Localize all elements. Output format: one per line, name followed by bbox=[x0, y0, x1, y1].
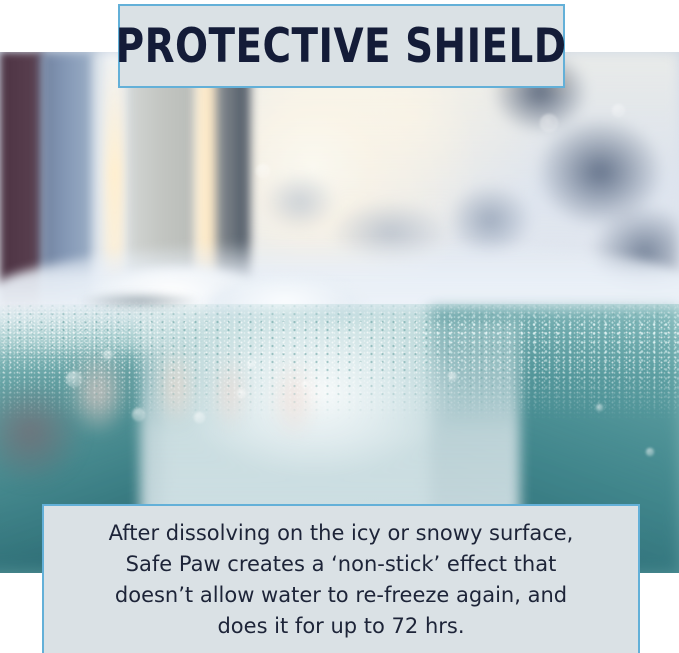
caption-text: After dissolving on the icy or snowy sur… bbox=[95, 518, 588, 642]
bokeh-droplet bbox=[103, 350, 113, 360]
caption-banner: After dissolving on the icy or snowy sur… bbox=[42, 504, 640, 653]
bokeh-droplet bbox=[247, 360, 255, 368]
bokeh-droplet bbox=[132, 408, 145, 421]
bokeh-droplet bbox=[596, 404, 603, 411]
caption-line: Safe Paw creates a ‘non-stick’ effect th… bbox=[109, 549, 574, 580]
bokeh-light bbox=[256, 164, 270, 178]
bokeh-droplet bbox=[194, 412, 205, 423]
bokeh-droplet bbox=[448, 372, 457, 381]
caption-line: After dissolving on the icy or snowy sur… bbox=[109, 518, 574, 549]
bokeh-droplet bbox=[66, 371, 82, 387]
bokeh-droplet bbox=[302, 381, 309, 388]
bokeh-droplet bbox=[237, 389, 246, 398]
photo-ice-granules-right bbox=[420, 302, 679, 412]
title-banner: PROTECTIVE SHIELD bbox=[118, 4, 565, 88]
bokeh-droplet bbox=[646, 448, 654, 456]
caption-line: doesn’t allow water to re-freeze again, … bbox=[109, 580, 574, 611]
bokeh-light bbox=[540, 114, 558, 132]
photo-ice-granules-fine bbox=[0, 308, 360, 378]
bokeh-light bbox=[612, 104, 625, 117]
winter-driveway-photo bbox=[0, 52, 679, 573]
caption-line: does it for up to 72 hrs. bbox=[109, 611, 574, 642]
page-title: PROTECTIVE SHIELD bbox=[116, 23, 567, 70]
infographic-card: PROTECTIVE SHIELD After dissolving on th… bbox=[0, 0, 679, 653]
